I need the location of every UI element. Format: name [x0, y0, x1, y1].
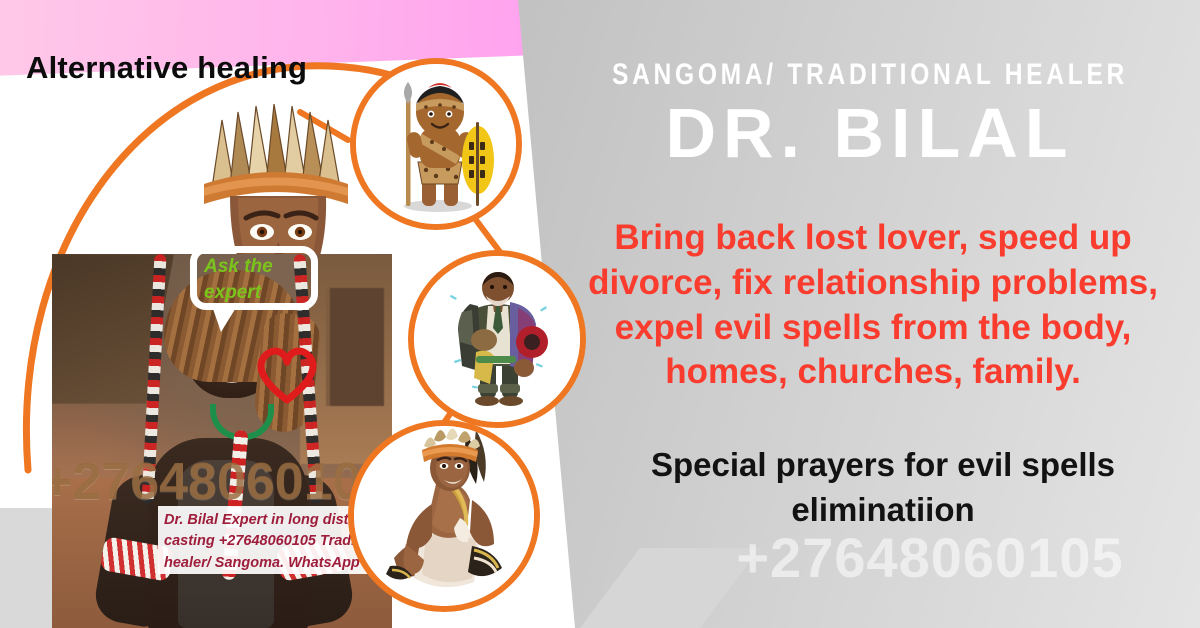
services-text: Bring back lost lover, speed up divorce,… — [556, 216, 1190, 395]
circle-badge-traditional-healer[interactable] — [408, 250, 586, 428]
photo-watermark-phone: +27648060105 — [52, 452, 392, 512]
heart-icon — [252, 342, 322, 406]
bubble-text: Ask the expert — [204, 254, 308, 305]
watermark-phone-number: +27648060105 — [650, 525, 1200, 590]
poster-canvas: Alternative healing — [0, 0, 1200, 628]
right-content-column: SANGOMA/ TRADITIONAL HEALER DR. BILAL Br… — [540, 0, 1200, 628]
circle-badge-kneeling-sangoma[interactable] — [348, 420, 540, 612]
subtitle-kicker: SANGOMA/ TRADITIONAL HEALER — [599, 58, 1140, 92]
healer-name: DR. BILAL — [540, 97, 1200, 171]
photo-doorframe — [326, 288, 384, 406]
special-offer-text: Special prayers for evil spells eliminat… — [576, 443, 1190, 532]
ask-the-expert-bubble: Ask the expert — [190, 246, 318, 310]
page-title: Alternative healing — [26, 50, 307, 86]
circle-badge-zulu-warrior[interactable] — [350, 58, 522, 230]
